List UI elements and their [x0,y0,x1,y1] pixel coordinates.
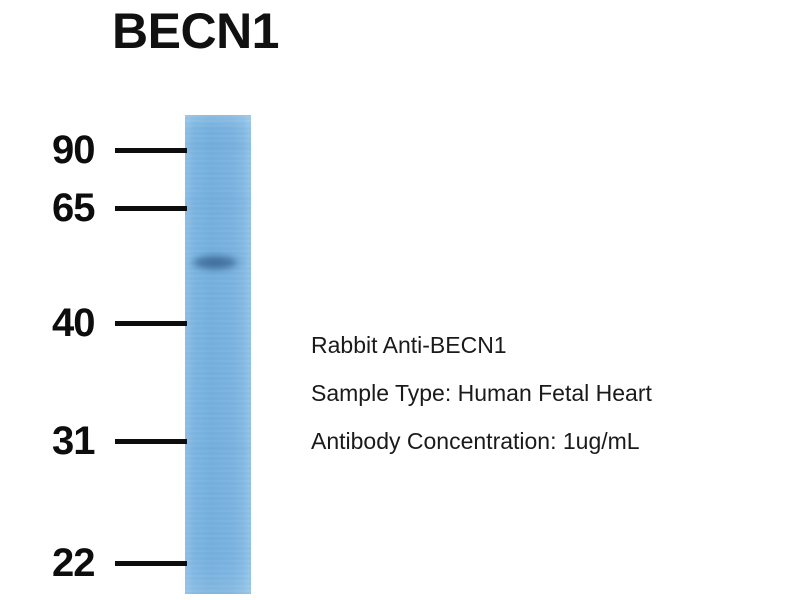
annotation-block: Rabbit Anti-BECN1 Sample Type: Human Fet… [311,332,781,455]
page-title: BECN1 [112,2,279,60]
blot-lane [185,115,251,594]
mw-tick-40 [115,321,187,326]
western-blot-figure: BECN1 90 65 40 31 22 Rabbit Anti-BECN1 S… [0,0,800,600]
mw-tick-90 [115,148,187,153]
lane-membrane [185,115,251,594]
annotation-sample-type: Sample Type: Human Fetal Heart [311,380,711,407]
mw-tick-65 [115,206,187,211]
annotation-concentration: Antibody Concentration: 1ug/mL [311,428,781,455]
mw-tick-31 [115,439,187,444]
mw-tick-22 [115,561,187,566]
annotation-antibody: Rabbit Anti-BECN1 [311,332,781,359]
